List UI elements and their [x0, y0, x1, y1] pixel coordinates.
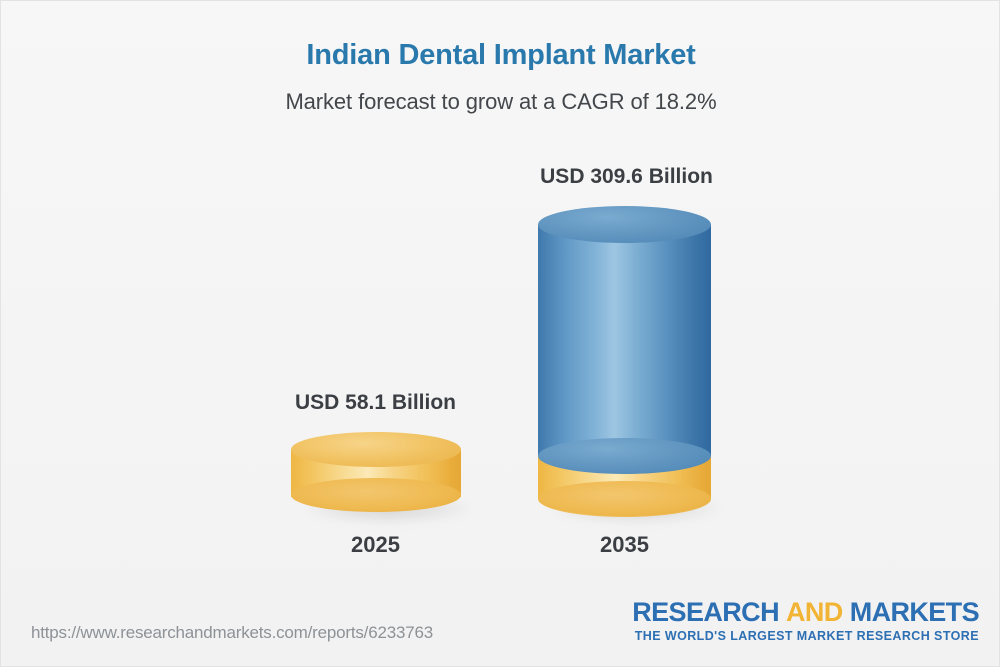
bar-2025-bottom-cap — [291, 478, 461, 512]
category-label-2035: 2035 — [472, 532, 777, 558]
bar-2035 — [538, 206, 711, 513]
logo-wordmark: RESEARCHANDMARKETS — [632, 599, 979, 627]
logo-research-text: RESEARCH — [632, 597, 779, 627]
logo-markets-text: MARKETS — [850, 597, 979, 627]
report-url[interactable]: https://www.researchandmarkets.com/repor… — [31, 623, 433, 643]
bar-2035-blue-body — [538, 224, 711, 456]
logo-tagline: THE WORLD'S LARGEST MARKET RESEARCH STOR… — [632, 629, 979, 644]
data-label-2025: USD 58.1 Billion — [223, 391, 528, 415]
bar-2035-yellow-bottom-ellipse — [538, 481, 711, 516]
logo-and-text: AND — [786, 597, 843, 627]
research-and-markets-logo[interactable]: RESEARCHANDMARKETS THE WORLD'S LARGEST M… — [632, 599, 979, 644]
infographic-canvas: Indian Dental Implant Market Market fore… — [0, 0, 1000, 667]
data-label-2035: USD 309.6 Billion — [474, 165, 779, 189]
page-subtitle: Market forecast to grow at a CAGR of 18.… — [1, 89, 1000, 115]
bar-2025-top-cap — [291, 432, 461, 467]
bar-2025 — [291, 432, 461, 513]
bar-2035-top-cap — [538, 206, 711, 243]
bar-2035-blue-bottom-curve — [538, 438, 711, 474]
page-title: Indian Dental Implant Market — [1, 39, 1000, 72]
